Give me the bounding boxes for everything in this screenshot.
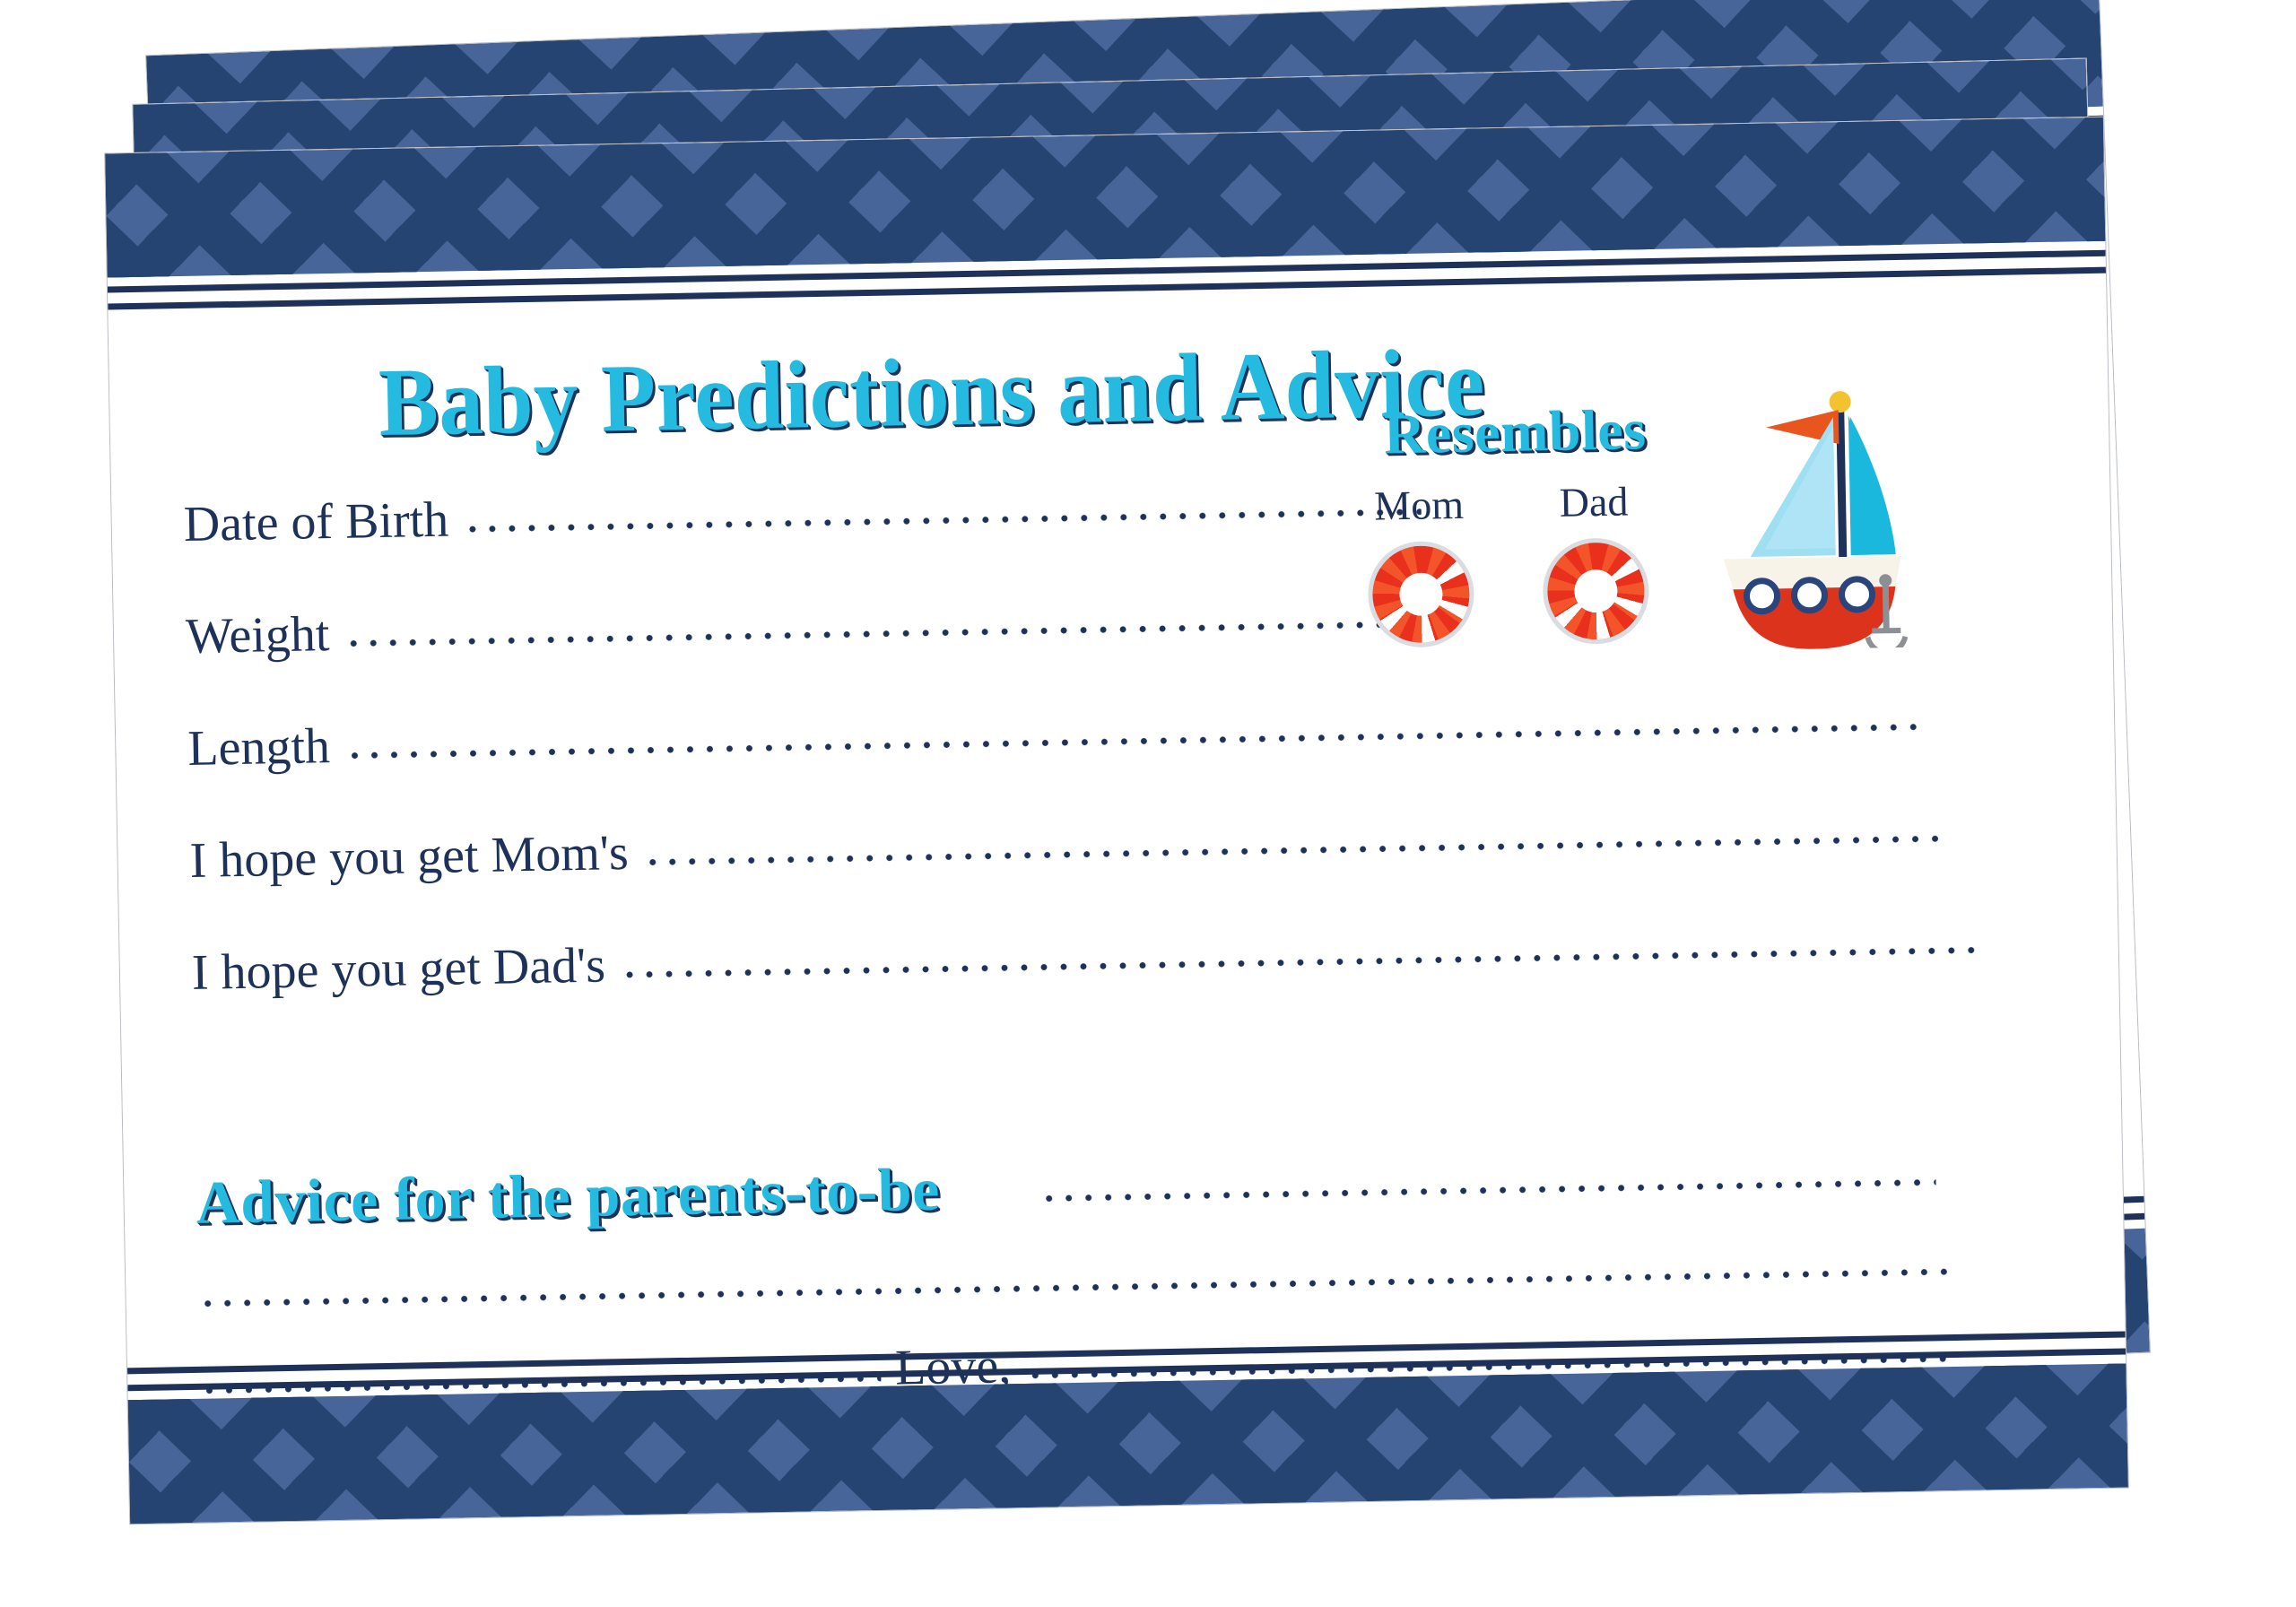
- dotted-fill-line[interactable]: [344, 712, 1919, 771]
- field-label-dads: I hope you get Dad's: [191, 940, 620, 998]
- field-row-moms: I hope you get Mom's: [189, 803, 1948, 886]
- resembles-options: Mom Dad: [1358, 477, 1657, 648]
- field-label-length: Length: [187, 721, 345, 774]
- resembles-heading: Resembles: [1383, 396, 1647, 467]
- resembles-label-dad: Dad: [1533, 477, 1655, 526]
- life-ring-icon[interactable]: [1542, 537, 1649, 645]
- dotted-fill-line[interactable]: [1039, 1167, 1935, 1213]
- dotted-fill-line[interactable]: [620, 934, 1977, 990]
- life-ring-icon[interactable]: [1367, 541, 1474, 648]
- field-label-weight: Weight: [186, 609, 344, 662]
- field-row-dads: I hope you get Dad's: [191, 915, 1977, 997]
- sailboat-icon: [1715, 377, 1979, 650]
- field-label-moms: I hope you get Mom's: [189, 828, 643, 886]
- field-label-date-of-birth: Date of Birth: [183, 494, 463, 550]
- resembles-option-mom[interactable]: Mom: [1358, 481, 1482, 648]
- field-row-length: Length: [187, 692, 1919, 774]
- resembles-option-dad[interactable]: Dad: [1533, 477, 1657, 645]
- dotted-fill-line[interactable]: [643, 823, 1948, 878]
- card-front: Baby Predictions and Advice Date of Birt…: [104, 117, 2129, 1525]
- card-stack: Baby Predictions and Advice Date of Birt…: [0, 0, 2296, 1607]
- field-row-weight: Weight: [186, 588, 1460, 662]
- dotted-fill-line[interactable]: [197, 1256, 1955, 1319]
- dotted-fill-line[interactable]: [463, 497, 1422, 545]
- resembles-label-mom: Mom: [1358, 481, 1480, 530]
- card-body: Baby Predictions and Advice Date of Birt…: [109, 281, 2126, 1361]
- field-row-date-of-birth: Date of Birth: [183, 477, 1422, 550]
- dotted-fill-line[interactable]: [344, 608, 1459, 659]
- page-title: Baby Predictions and Advice: [378, 327, 1485, 459]
- advice-heading: Advice for the parents-to-be: [196, 1154, 941, 1238]
